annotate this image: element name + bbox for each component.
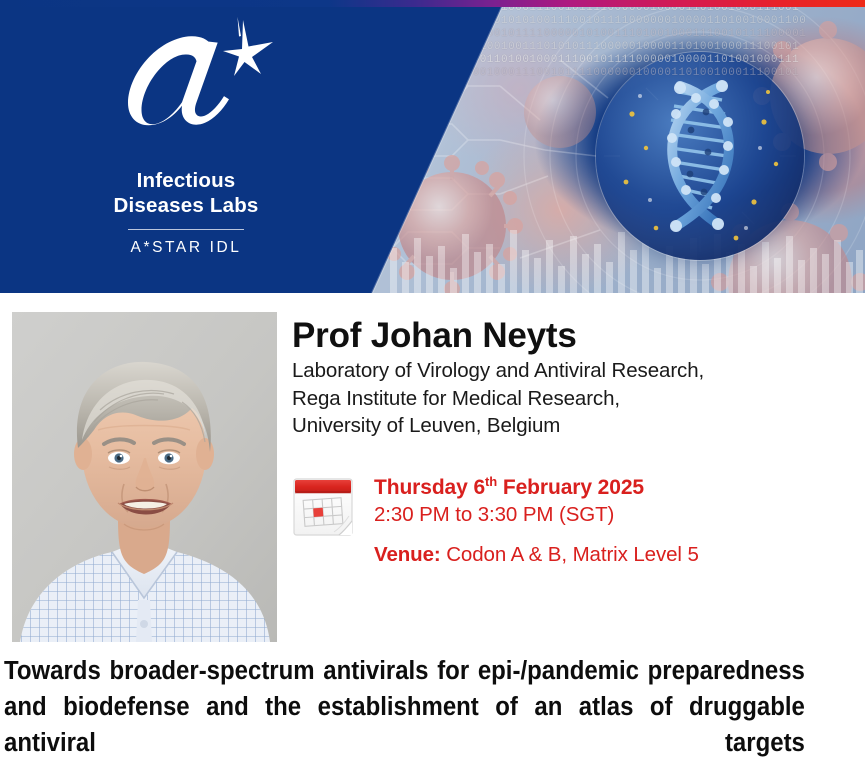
- top-gradient-strip: [0, 0, 865, 7]
- speaker-portrait: [12, 312, 277, 642]
- event-venue-value: Codon A & B, Matrix Level 5: [441, 543, 699, 566]
- event-date-prefix: Thursday 6: [374, 476, 485, 499]
- speaker-name: Prof Johan Neyts: [292, 315, 857, 357]
- event-date-ordinal: th: [485, 474, 497, 489]
- speaker-affiliation-line-2: Rega Institute for Medical Research,: [292, 385, 857, 413]
- event-date-suffix: February 2025: [497, 476, 644, 499]
- event-time: 2:30 PM to 3:30 PM (SGT): [374, 501, 699, 529]
- seminar-poster: 0000110100100011100101111000000100001101…: [0, 0, 865, 777]
- speaker-affiliation-line-1: Laboratory of Virology and Antiviral Res…: [292, 357, 857, 385]
- event-date: Thursday 6th February 2025: [374, 475, 699, 501]
- event-venue-label: Venue:: [374, 543, 441, 566]
- calendar-icon: [292, 476, 354, 538]
- event-text: Thursday 6th February 2025 2:30 PM to 3:…: [374, 474, 699, 569]
- event-venue: Venue: Codon A & B, Matrix Level 5: [374, 541, 699, 569]
- org-name-line1: Infectious: [0, 168, 372, 193]
- talk-title: Towards broader-spectrum antivirals for …: [4, 653, 805, 777]
- speaker-portrait-image: [12, 312, 277, 642]
- org-sub-label: A*STAR IDL: [0, 239, 372, 257]
- speaker-affiliation-line-3: University of Leuven, Belgium: [292, 412, 857, 440]
- logo-divider: [128, 229, 244, 230]
- brand-logo-block: Infectious Diseases Labs A*STAR IDL: [0, 14, 372, 257]
- event-details-block: Thursday 6th February 2025 2:30 PM to 3:…: [292, 474, 862, 569]
- org-name-line2: Diseases Labs: [0, 193, 372, 218]
- speaker-info: Prof Johan Neyts Laboratory of Virology …: [292, 315, 857, 440]
- astar-a-star-logo-icon: [91, 14, 281, 162]
- org-name: Infectious Diseases Labs: [0, 168, 372, 218]
- header-banner: 0000110100100011100101111000000100001101…: [0, 0, 865, 293]
- dna-double-helix-icon: [596, 52, 804, 260]
